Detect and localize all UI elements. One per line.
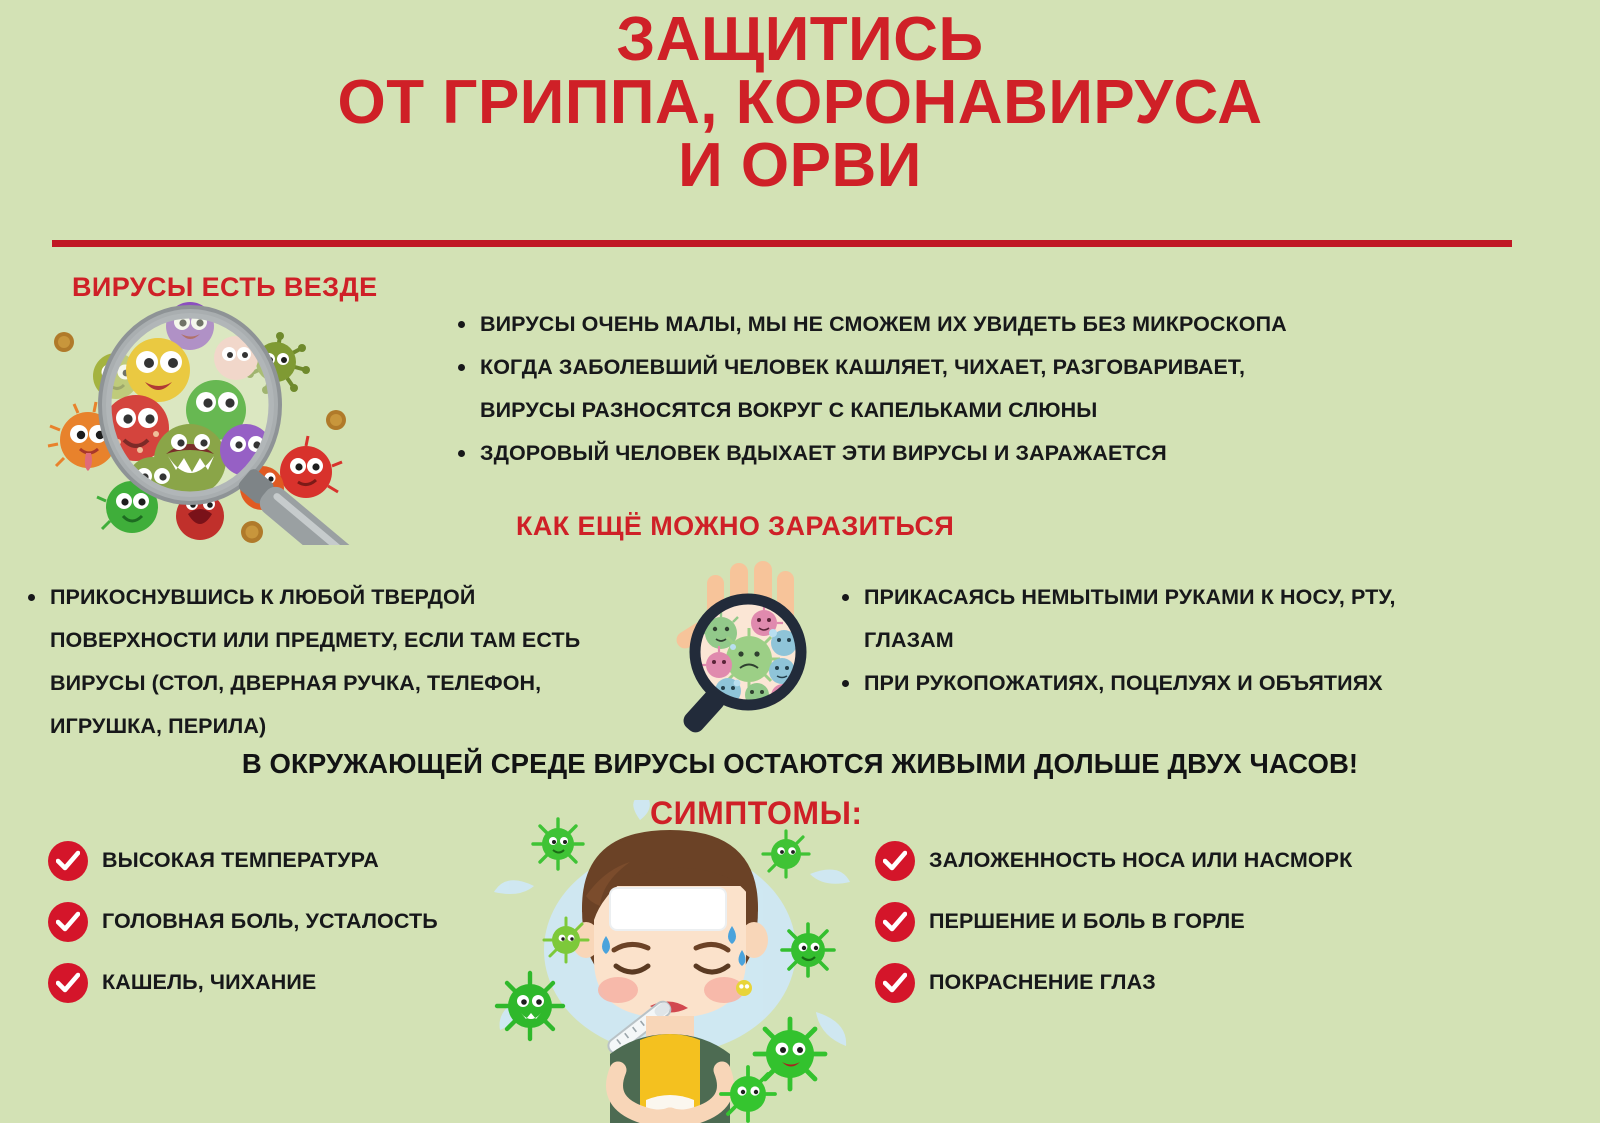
list-item: КАШЕЛЬ, ЧИХАНИЕ [48,957,438,1008]
section-heading-how-else-infected: КАК ЕЩЁ МОЖНО ЗАРАЗИТЬСЯ [516,511,954,542]
list-item: ЗДОРОВЫЙ ЧЕЛОВЕК ВДЫХАЕТ ЭТИ ВИРУСЫ И ЗА… [452,432,1372,475]
symptom-label: ПОКРАСНЕНИЕ ГЛАЗ [929,970,1156,995]
symptom-label: ВЫСОКАЯ ТЕМПЕРАТУРА [102,848,379,873]
symptom-label: ГОЛОВНАЯ БОЛЬ, УСТАЛОСТЬ [102,909,438,934]
list-item: ПРИ РУКОПОЖАТИЯХ, ПОЦЕЛУЯХ И ОБЪЯТИЯХ [836,662,1456,705]
bullet-dot-icon [458,321,465,328]
list-item-label: ПРИКАСАЯСЬ НЕМЫТЫМИ РУКАМИ К НОСУ, РТУ,Г… [864,576,1456,662]
check-circle-icon [875,841,915,881]
check-circle-icon [48,963,88,1003]
list-item: ПРИКАСАЯСЬ НЕМЫТЫМИ РУКАМИ К НОСУ, РТУ,Г… [836,576,1456,662]
hand-magnifier-illustration [645,555,855,740]
list-viruses-everywhere: ВИРУСЫ ОЧЕНЬ МАЛЫ, МЫ НЕ СМОЖЕМ ИХ УВИДЕ… [452,303,1372,475]
bullet-dot-icon [458,364,465,371]
check-circle-icon [875,963,915,1003]
list-item: ВИРУСЫ ОЧЕНЬ МАЛЫ, МЫ НЕ СМОЖЕМ ИХ УВИДЕ… [452,303,1372,346]
list-item: ПРИКОСНУВШИСЬ К ЛЮБОЙ ТВЕРДОЙПОВЕРХНОСТИ… [22,576,622,748]
symptom-label: КАШЕЛЬ, ЧИХАНИЕ [102,970,316,995]
sick-child-illustration [490,800,850,1123]
list-item-label: КОГДА ЗАБОЛЕВШИЙ ЧЕЛОВЕК КАШЛЯЕТ, ЧИХАЕТ… [480,346,1372,432]
page-title: ЗАЩИТИСЬ ОТ ГРИППА, КОРОНАВИРУСА И ОРВИ [0,8,1600,198]
title-line-2: ОТ ГРИППА, КОРОНАВИРУСА [0,71,1600,134]
title-line-3: И ОРВИ [0,134,1600,197]
list-item-label: ЗДОРОВЫЙ ЧЕЛОВЕК ВДЫХАЕТ ЭТИ ВИРУСЫ И ЗА… [480,432,1372,475]
title-divider [52,240,1512,247]
symptoms-list-right: ЗАЛОЖЕННОСТЬ НОСА ИЛИ НАСМОРК ПЕРШЕНИЕ И… [875,835,1352,1018]
symptom-label: ЗАЛОЖЕННОСТЬ НОСА ИЛИ НАСМОРК [929,848,1352,873]
list-item: КОГДА ЗАБОЛЕВШИЙ ЧЕЛОВЕК КАШЛЯЕТ, ЧИХАЕТ… [452,346,1372,432]
symptoms-list-left: ВЫСОКАЯ ТЕМПЕРАТУРА ГОЛОВНАЯ БОЛЬ, УСТАЛ… [48,835,438,1018]
infographic-poster: ЗАЩИТИСЬ ОТ ГРИППА, КОРОНАВИРУСА И ОРВИ … [0,0,1600,1123]
check-circle-icon [875,902,915,942]
environment-statement: В ОКРУЖАЮЩЕЙ СРЕДЕ ВИРУСЫ ОСТАЮТСЯ ЖИВЫМ… [0,748,1600,780]
list-hand-contact: ПРИКАСАЯСЬ НЕМЫТЫМИ РУКАМИ К НОСУ, РТУ,Г… [836,576,1456,705]
check-circle-icon [48,841,88,881]
bullet-dot-icon [28,594,35,601]
bullet-dot-icon [842,594,849,601]
section-heading-symptoms: СИМПТОМЫ: [650,795,863,832]
list-item: ГОЛОВНАЯ БОЛЬ, УСТАЛОСТЬ [48,896,438,947]
list-item: ПЕРШЕНИЕ И БОЛЬ В ГОРЛЕ [875,896,1352,947]
list-item: ВЫСОКАЯ ТЕМПЕРАТУРА [48,835,438,886]
bullet-dot-icon [458,450,465,457]
bullet-dot-icon [842,680,849,687]
section-heading-viruses-everywhere: ВИРУСЫ ЕСТЬ ВЕЗДЕ [72,272,378,303]
list-item: ПОКРАСНЕНИЕ ГЛАЗ [875,957,1352,1008]
title-line-1: ЗАЩИТИСЬ [0,8,1600,71]
list-item: ЗАЛОЖЕННОСТЬ НОСА ИЛИ НАСМОРК [875,835,1352,886]
check-circle-icon [48,902,88,942]
magnifier-germ-cluster-illustration [40,300,430,545]
list-item-label: ПРИКОСНУВШИСЬ К ЛЮБОЙ ТВЕРДОЙПОВЕРХНОСТИ… [50,576,622,748]
list-surface-contact: ПРИКОСНУВШИСЬ К ЛЮБОЙ ТВЕРДОЙПОВЕРХНОСТИ… [22,576,622,748]
list-item-label: ПРИ РУКОПОЖАТИЯХ, ПОЦЕЛУЯХ И ОБЪЯТИЯХ [864,662,1456,705]
symptom-label: ПЕРШЕНИЕ И БОЛЬ В ГОРЛЕ [929,909,1245,934]
list-item-label: ВИРУСЫ ОЧЕНЬ МАЛЫ, МЫ НЕ СМОЖЕМ ИХ УВИДЕ… [480,303,1372,346]
